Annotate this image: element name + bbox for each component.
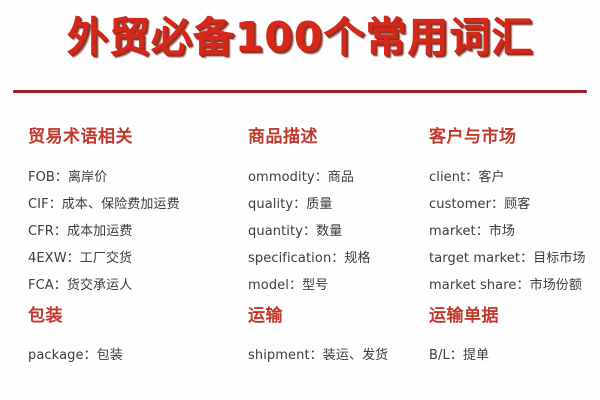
list-item: customer：顾客 <box>429 191 600 218</box>
entry-text: FCA：货交承运人 <box>28 278 132 293</box>
page-title: 外贸必备100个常用词汇 <box>67 14 534 61</box>
section-shipping: 运输 shipment：装运、发货 <box>238 307 417 370</box>
list-item: market：市场 <box>429 218 600 245</box>
list-item: quality：质量 <box>248 191 417 218</box>
entry-text: market：市场 <box>429 224 515 239</box>
section-heading: 包装 <box>28 307 238 327</box>
title-divider-rule <box>13 90 587 93</box>
entry-text: 4EXW：工厂交货 <box>28 251 132 266</box>
entry-text: model：型号 <box>248 278 328 293</box>
list-item: FCA：货交承运人 <box>28 272 238 299</box>
list-item: FOB：离岸价 <box>28 164 238 191</box>
list-item: quantity：数量 <box>248 218 417 245</box>
section-customers-and-market: 客户与市场 client：客户 customer：顾客 market：市场 ta… <box>417 128 600 299</box>
list-item: CFR：成本加运费 <box>28 218 238 245</box>
list-item: model：型号 <box>248 272 417 299</box>
list-item: market share：市场份额 <box>429 272 600 299</box>
entry-text: market share：市场份额 <box>429 278 582 293</box>
entry-list: shipment：装运、发货 <box>248 342 417 369</box>
entry-text: shipment：装运、发货 <box>248 348 388 363</box>
entry-list: ommodity：商品 quality：质量 quantity：数量 speci… <box>248 164 417 299</box>
entry-text: package：包装 <box>28 348 123 363</box>
entry-text: client：客户 <box>429 170 505 185</box>
list-item: shipment：装运、发货 <box>248 342 417 369</box>
section-product-description: 商品描述 ommodity：商品 quality：质量 quantity：数量 … <box>238 128 417 299</box>
entry-text: target market：目标市场 <box>429 251 586 266</box>
entry-text: quantity：数量 <box>248 224 342 239</box>
entry-text: quality：质量 <box>248 197 332 212</box>
poster-title-block: 外贸必备100个常用词汇 <box>0 14 600 61</box>
list-item: target market：目标市场 <box>429 245 600 272</box>
section-packaging: 包装 package：包装 <box>0 307 238 370</box>
list-item: 4EXW：工厂交货 <box>28 245 238 272</box>
list-item: B/L：提单 <box>429 342 600 369</box>
section-shipping-documents: 运输单据 B/L：提单 <box>417 307 600 370</box>
entry-text: B/L：提单 <box>429 348 489 363</box>
entry-list: B/L：提单 <box>429 342 600 369</box>
list-item: specification：规格 <box>248 245 417 272</box>
vocabulary-grid: 贸易术语相关 FOB：离岸价 CIF：成本、保险费加运费 CFR：成本加运费 4… <box>0 128 600 369</box>
section-heading: 商品描述 <box>248 128 417 148</box>
section-trade-terms: 贸易术语相关 FOB：离岸价 CIF：成本、保险费加运费 CFR：成本加运费 4… <box>0 128 238 299</box>
entry-list: client：客户 customer：顾客 market：市场 target m… <box>429 164 600 299</box>
entry-text: CIF：成本、保险费加运费 <box>28 197 180 212</box>
entry-text: customer：顾客 <box>429 197 530 212</box>
list-item: ommodity：商品 <box>248 164 417 191</box>
entry-text: ommodity：商品 <box>248 170 354 185</box>
entry-text: specification：规格 <box>248 251 371 266</box>
entry-list: package：包装 <box>28 342 238 369</box>
list-item: CIF：成本、保险费加运费 <box>28 191 238 218</box>
entry-text: FOB：离岸价 <box>28 170 107 185</box>
section-row-top: 贸易术语相关 FOB：离岸价 CIF：成本、保险费加运费 CFR：成本加运费 4… <box>0 128 600 299</box>
list-item: package：包装 <box>28 342 238 369</box>
list-item: client：客户 <box>429 164 600 191</box>
section-heading: 运输 <box>248 307 417 327</box>
section-row-bottom: 包装 package：包装 运输 shipment：装运、发货 运输单据 <box>0 307 600 370</box>
entry-text: CFR：成本加运费 <box>28 224 133 239</box>
section-heading: 客户与市场 <box>429 128 600 148</box>
vocabulary-poster: 外贸必备100个常用词汇 贸易术语相关 FOB：离岸价 CIF：成本、保险费加运… <box>0 0 600 400</box>
section-heading: 贸易术语相关 <box>28 128 238 148</box>
section-heading: 运输单据 <box>429 307 600 327</box>
entry-list: FOB：离岸价 CIF：成本、保险费加运费 CFR：成本加运费 4EXW：工厂交… <box>28 164 238 299</box>
